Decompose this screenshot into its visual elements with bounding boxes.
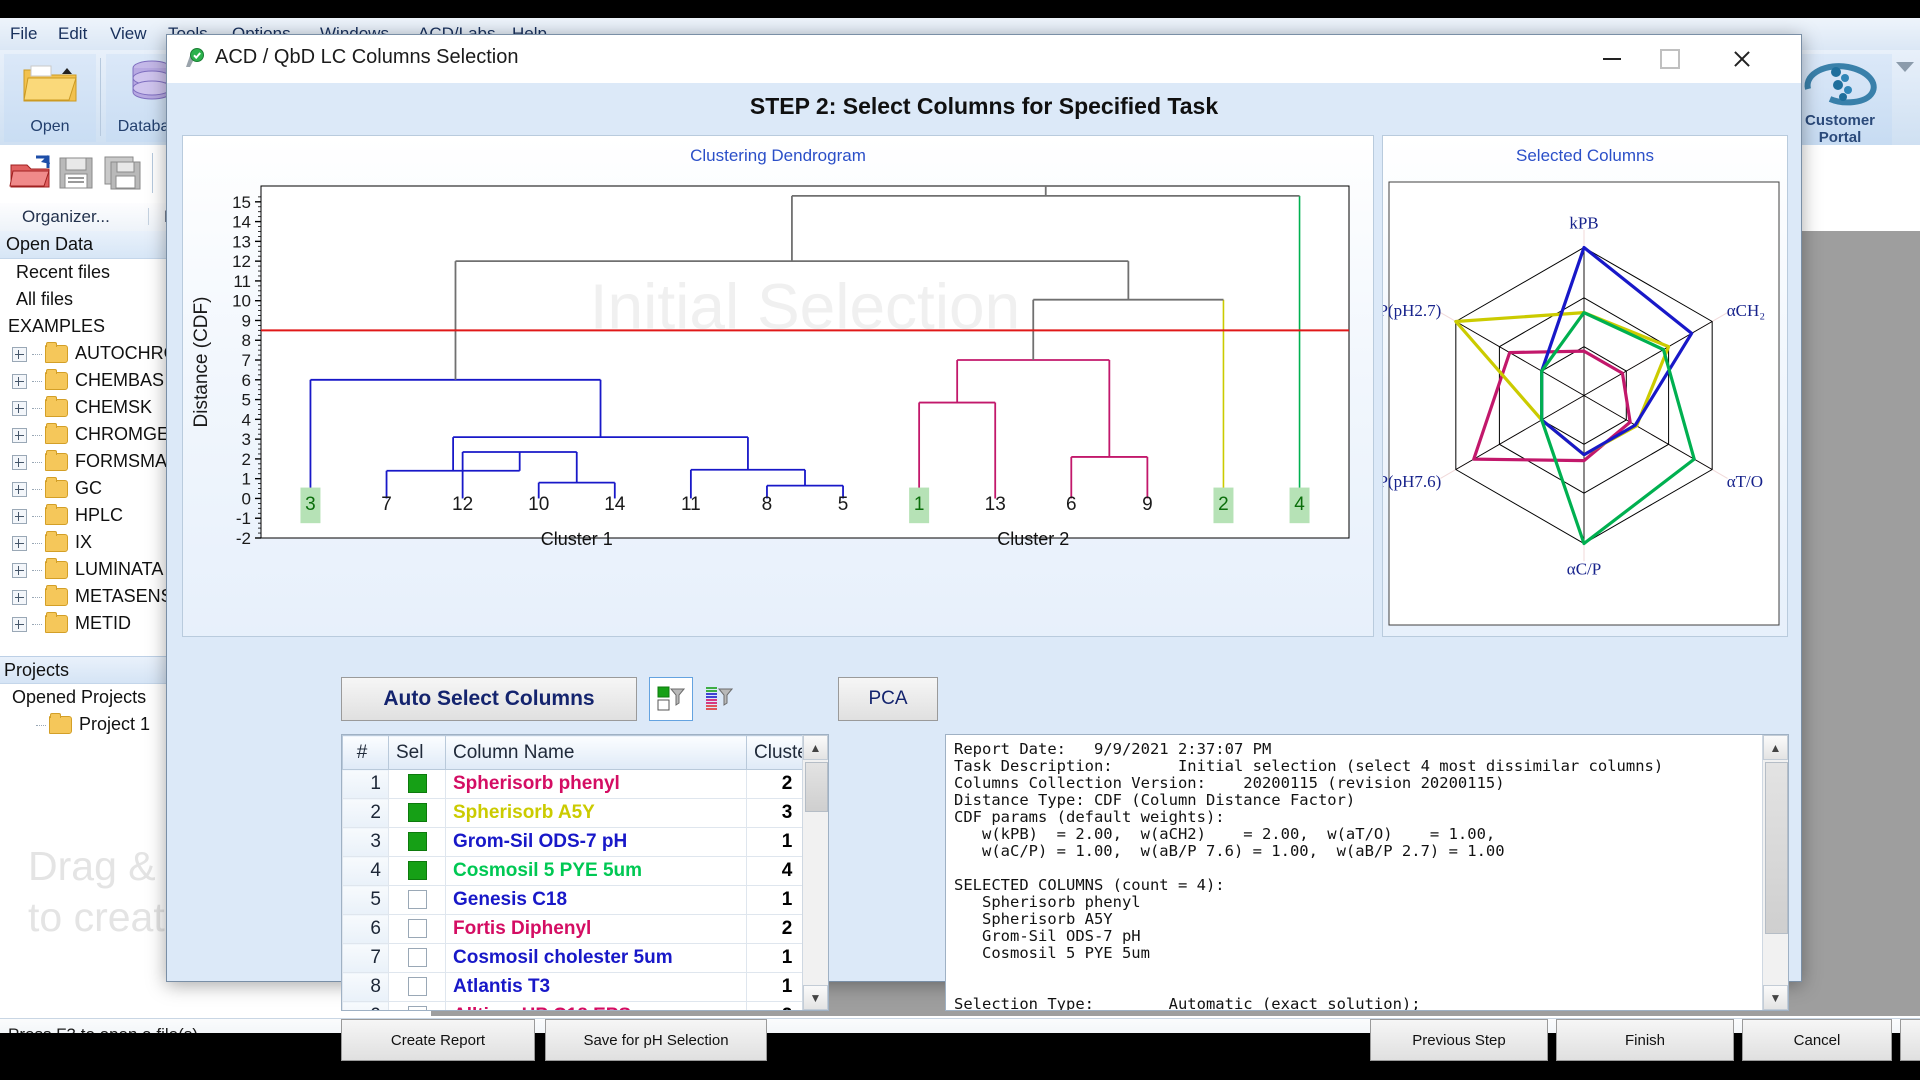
ribbon-overflow-chevron-down-icon[interactable] [1896,62,1914,72]
svg-text:αB/P(pH7.6): αB/P(pH7.6) [1383,472,1441,491]
open-project-icon[interactable] [8,153,52,193]
tree-connector [32,354,42,355]
cell-column-name: Spherisorb phenyl [446,770,747,799]
svg-text:12: 12 [232,252,251,271]
svg-text:9: 9 [1142,494,1153,515]
customer-portal-label: Customer Portal [1788,113,1892,146]
svg-text:αT/O: αT/O [1727,472,1763,491]
folder-icon [45,372,68,390]
table-row[interactable]: 4Cosmosil 5 PYE 5um4 [343,857,828,886]
svg-text:Initial Selection: Initial Selection [590,270,1020,342]
tree-connector [32,516,42,517]
organizer-button[interactable]: Organizer... [22,207,110,227]
table-row[interactable]: 5Genesis C181 [343,886,828,915]
cell-selected[interactable] [389,973,446,1002]
selection-checkbox[interactable] [408,803,427,822]
svg-text:5: 5 [242,391,251,410]
tree-connector [32,489,42,490]
radar-panel: Selected Columns kPBαCH₂αT/OαC/PαB/P(pH7… [1382,135,1788,637]
cell-selected[interactable] [389,828,446,857]
expand-icon[interactable] [12,428,27,443]
close-button[interactable] [1713,35,1771,82]
table-row[interactable]: 6Fortis Diphenyl2 [343,915,828,944]
cell-number: 7 [343,944,389,973]
svg-text:6: 6 [242,371,251,390]
ribbon-open-label: Open [4,118,96,136]
cell-number: 9 [343,1002,389,1012]
minimize-icon [1603,58,1621,60]
svg-text:14: 14 [232,213,251,232]
table-row[interactable]: 9Alltima HP C18 EPS2 [343,1002,828,1012]
folder-icon [45,561,68,579]
scroll-thumb[interactable] [805,762,828,812]
svg-text:7: 7 [381,494,392,515]
folder-icon [45,345,68,363]
cell-selected[interactable] [389,799,446,828]
tree-folder-label: FORMSMAN [75,451,180,471]
filter-cluster-icon [705,685,733,713]
cell-selected[interactable] [389,857,446,886]
table-row[interactable]: 8Atlantis T31 [343,973,828,1002]
folder-icon [45,453,68,471]
tree-connector [32,381,42,382]
cell-column-name: Fortis Diphenyl [446,915,747,944]
folder-icon [45,507,68,525]
selection-checkbox[interactable] [408,1006,427,1011]
cell-number: 4 [343,857,389,886]
cell-selected[interactable] [389,915,446,944]
svg-text:7: 7 [242,351,251,370]
cancel-button[interactable]: Cancel [1742,1019,1892,1061]
selection-checkbox[interactable] [408,948,427,967]
expand-icon[interactable] [12,374,27,389]
selection-checkbox[interactable] [408,977,427,996]
svg-text:-1: -1 [236,509,251,528]
tree-folder-label: CHEMSK [75,397,152,417]
svg-text:13: 13 [232,232,251,251]
folder-icon [49,716,72,734]
tree-folder-label: IX [75,532,92,552]
tree-connector [32,597,42,598]
tree-connector [32,570,42,571]
svg-text:kPB: kPB [1569,214,1598,233]
svg-text:3: 3 [305,494,316,515]
columns-table-grid: # Sel Column Name Cluster 1Spherisorb ph… [342,735,828,1011]
previous-step-button[interactable]: Previous Step [1370,1019,1548,1061]
columns-table-body: 1Spherisorb phenyl22Spherisorb A5Y33Grom… [343,770,828,1012]
table-row[interactable]: 2Spherisorb A5Y3 [343,799,828,828]
ribbon-divider [100,58,101,136]
svg-text:8: 8 [242,331,251,350]
svg-text:12: 12 [452,494,473,515]
pca-button[interactable]: PCA [838,677,938,721]
customer-portal-button[interactable]: Customer Portal [1788,54,1892,150]
svg-text:11: 11 [233,272,251,291]
th-column-name: Column Name [446,736,747,770]
report-scroll-up-icon[interactable]: ▲ [1763,735,1788,760]
selection-checkbox[interactable] [408,861,427,880]
cell-column-name: Alltima HP C18 EPS [446,1002,747,1012]
dendrogram-caption: Clustering Dendrogram [183,146,1373,166]
selection-checkbox[interactable] [408,890,427,909]
ribbon-open-button[interactable]: Open [4,54,96,142]
svg-text:14: 14 [604,494,626,515]
tree-folder-label: HPLC [75,505,123,525]
cell-number: 5 [343,886,389,915]
dendrogram-panel: Clustering Dendrogram Initial Selection1… [182,135,1374,637]
tree-connector [32,435,42,436]
toolbar-divider [152,153,153,193]
tree-folder-label: LUMINATA [75,559,163,579]
filter-cluster-button[interactable] [697,677,741,721]
acd-swirl-icon [1798,59,1882,115]
cell-column-name: Spherisorb A5Y [446,799,747,828]
cell-column-name: Genesis C18 [446,886,747,915]
report-scroll-down-icon[interactable]: ▼ [1763,985,1788,1010]
folder-icon [45,480,68,498]
svg-text:15: 15 [232,193,251,212]
table-header-row: # Sel Column Name Cluster [343,736,828,770]
expand-icon[interactable] [12,455,27,470]
tree-connector [36,725,46,726]
filter-selected-icon [657,685,685,713]
svg-text:0: 0 [242,489,251,508]
svg-text:6: 6 [1066,494,1077,515]
open-folder-icon [21,60,79,106]
dialog-title-text: ACD / QbD LC Columns Selection [215,46,518,69]
project-label: Project 1 [79,714,150,734]
svg-text:-2: -2 [236,529,251,548]
expand-icon[interactable] [12,482,27,497]
tree-connector [32,408,42,409]
tree-connector [32,543,42,544]
svg-text:4: 4 [1294,494,1305,515]
scroll-down-arrow-icon[interactable]: ▼ [803,985,828,1010]
selection-checkbox[interactable] [408,832,427,851]
folder-icon [45,534,68,552]
columns-selection-dialog: ACD / QbD LC Columns Selection STEP 2: S… [166,34,1802,982]
folder-icon [45,426,68,444]
cell-number: 3 [343,828,389,857]
cell-number: 8 [343,973,389,1002]
tree-folder-label: GC [75,478,102,498]
th-number: # [343,736,389,770]
save-icon[interactable] [58,155,94,191]
dialog-title-bar[interactable]: ACD / QbD LC Columns Selection [167,35,1801,84]
th-selected: Sel [389,736,446,770]
maximize-icon [1660,49,1680,69]
menu-item-view[interactable]: View [110,24,147,44]
expand-icon[interactable] [12,617,27,632]
expand-icon[interactable] [12,347,27,362]
svg-text:Cluster 2: Cluster 2 [997,529,1069,549]
svg-text:10: 10 [232,292,251,311]
svg-text:4: 4 [242,410,251,429]
report-scrollbar[interactable]: ▲ ▼ [1762,735,1788,1010]
cell-selected[interactable] [389,886,446,915]
tree-folder-label: CHEMBAS [75,370,164,390]
svg-text:5: 5 [838,494,849,515]
cell-column-name: Atlantis T3 [446,973,747,1002]
table-row[interactable]: 1Spherisorb phenyl2 [343,770,828,799]
cell-column-name: Cosmosil 5 PYE 5um [446,857,747,886]
filter-selected-button[interactable] [649,677,693,721]
svg-text:2: 2 [1218,494,1229,515]
cell-column-name: Cosmosil cholester 5um [446,944,747,973]
svg-text:Cluster 1: Cluster 1 [541,529,613,549]
acd-app-icon [181,47,205,71]
svg-text:3: 3 [242,430,251,449]
step-title: STEP 2: Select Columns for Specified Tas… [167,93,1801,120]
expand-icon[interactable] [12,509,27,524]
cell-column-name: Grom-Sil ODS-7 pH [446,828,747,857]
cell-number: 1 [343,770,389,799]
svg-text:1: 1 [242,470,251,489]
svg-text:Distance (CDF): Distance (CDF) [191,297,212,428]
save-all-icon[interactable] [104,155,142,191]
svg-text:αC/P: αC/P [1567,559,1601,578]
cell-number: 6 [343,915,389,944]
auto-select-columns-button[interactable]: Auto Select Columns [341,677,637,721]
cell-number: 2 [343,799,389,828]
report-text: Report Date: 9/9/2021 2:37:07 PM Task De… [946,735,1788,1011]
menu-item-file[interactable]: File [10,24,37,44]
close-icon [1732,49,1752,69]
radar-chart[interactable]: kPBαCH₂αT/OαC/PαB/P(pH7.6)αB/P(pH2.7) [1383,176,1785,631]
maximize-button[interactable] [1641,35,1699,82]
svg-text:1: 1 [914,494,925,515]
svg-text:8: 8 [762,494,773,515]
tree-connector [32,462,42,463]
table-row[interactable]: 7Cosmosil cholester 5um1 [343,944,828,973]
selection-checkbox[interactable] [408,774,427,793]
tree-connector [32,624,42,625]
svg-text:αCH₂: αCH₂ [1727,301,1765,320]
dialog-body: STEP 2: Select Columns for Specified Tas… [167,83,1801,981]
selection-checkbox[interactable] [408,919,427,938]
cell-selected[interactable] [389,944,446,973]
expand-icon[interactable] [12,590,27,605]
save-for-ph-selection-button[interactable]: Save for pH Selection [545,1019,767,1061]
cell-selected[interactable] [389,770,446,799]
svg-text:10: 10 [528,494,549,515]
table-scrollbar[interactable]: ▲ ▼ [802,735,828,1010]
svg-text:αB/P(pH2.7): αB/P(pH2.7) [1383,301,1441,320]
expand-icon[interactable] [12,401,27,416]
tree-folder-label: METID [75,613,131,633]
svg-text:13: 13 [985,494,1006,515]
scroll-up-arrow-icon[interactable]: ▲ [803,735,828,760]
cell-selected[interactable] [389,1002,446,1012]
create-report-button[interactable]: Create Report [341,1019,535,1061]
expand-icon[interactable] [12,563,27,578]
svg-text:2: 2 [242,450,251,469]
svg-text:9: 9 [242,311,251,330]
menu-item-edit[interactable]: Edit [58,24,87,44]
columns-table[interactable]: # Sel Column Name Cluster 1Spherisorb ph… [341,734,829,1011]
help-button[interactable]: Help [1900,1019,1920,1061]
finish-button[interactable]: Finish [1556,1019,1734,1061]
folder-icon [45,588,68,606]
expand-icon[interactable] [12,536,27,551]
svg-text:11: 11 [681,494,701,515]
dendrogram-chart[interactable]: Initial Selection1514131211109876543210-… [183,170,1371,630]
organizer-divider [148,208,149,225]
report-scroll-thumb[interactable] [1765,762,1788,934]
report-panel[interactable]: Report Date: 9/9/2021 2:37:07 PM Task De… [945,734,1789,1011]
minimize-button[interactable] [1583,35,1641,82]
folder-icon [45,615,68,633]
radar-caption: Selected Columns [1383,146,1787,166]
table-row[interactable]: 3Grom-Sil ODS-7 pH1 [343,828,828,857]
folder-icon [45,399,68,417]
